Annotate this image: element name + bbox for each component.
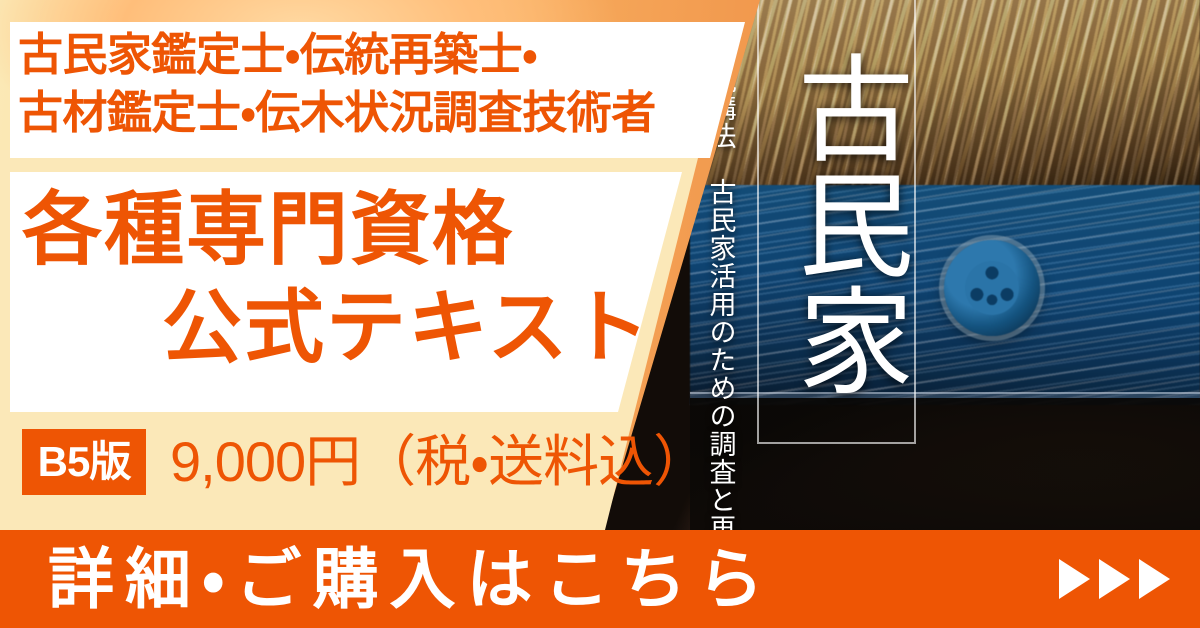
headline-line-1: 各種専門資格 bbox=[22, 190, 514, 270]
book-title: 古民家 bbox=[763, 8, 911, 438]
format-badge: B5版 bbox=[22, 429, 146, 495]
promo-banner: 古民家 伝統構法 古民家活用のための調査と再生の 古民家鑑定士・伝統再築士・ 古… bbox=[0, 0, 1200, 628]
triangle-right-icon bbox=[1059, 559, 1090, 599]
cta-arrow-group bbox=[1059, 559, 1170, 599]
headline-line-2: 公式テキスト bbox=[162, 288, 652, 368]
family-crest-roof-tile-icon bbox=[944, 240, 1040, 336]
cta-label: 詳細・ご購入はこちら bbox=[48, 546, 774, 612]
cta-bar[interactable]: 詳細・ご購入はこちら bbox=[0, 530, 1200, 628]
price-text: 9,000円（税・送料込） bbox=[170, 430, 708, 494]
triangle-right-icon bbox=[1139, 559, 1170, 599]
qualifications-text: 古民家鑑定士・伝統再築士・ 古材鑑定士・伝木状況調査技術者 bbox=[18, 26, 738, 141]
triangle-right-icon bbox=[1099, 559, 1130, 599]
